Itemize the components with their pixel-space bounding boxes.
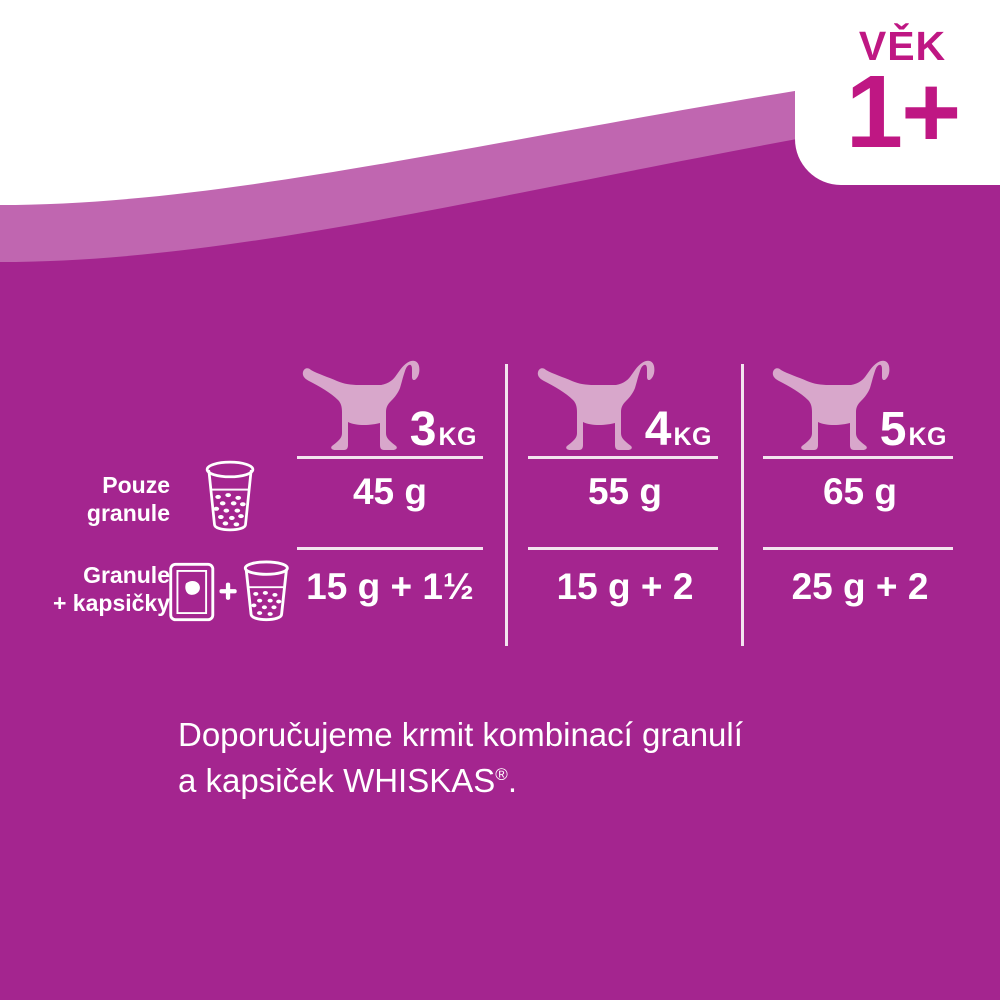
row-label-1-line2: granule (30, 499, 170, 527)
feeding-table: 3KG 4KG (0, 318, 1000, 658)
age-badge-value: 1+ (846, 63, 959, 161)
weight-value-col-1: 3KG (410, 406, 477, 454)
table-cell-r1c1: 45 g (295, 473, 485, 510)
row-divider-1-col-3 (763, 547, 953, 550)
row-label-1-line1: Pouze (30, 471, 170, 499)
table-header-col-1: 3KG (295, 348, 485, 458)
table-cell-r1c3: 65 g (765, 473, 955, 510)
cat-silhouette-icon (769, 360, 897, 450)
row-label-1: Pouze granule (30, 471, 170, 527)
table-header-col-3: 5KG (765, 348, 955, 458)
weight-value-col-2: 4KG (645, 406, 712, 454)
table-cell-r2c3: 25 g + 2 (765, 568, 955, 605)
weight-number-1: 3 (410, 403, 437, 456)
weight-number-2: 4 (645, 403, 672, 456)
recommendation-note-line2-wrap: a kapsiček WHISKAS®. (178, 758, 938, 804)
row-label-2: Granule + kapsičky (30, 561, 170, 617)
column-divider-1 (505, 364, 508, 646)
weight-value-col-3: 5KG (880, 406, 947, 454)
recommendation-note-period: . (508, 762, 517, 799)
weight-number-3: 5 (880, 403, 907, 456)
row-label-2-line2: + kapsičky (30, 589, 170, 617)
row-divider-header-col-2 (528, 456, 718, 459)
cup-shape (245, 562, 287, 620)
weight-unit-2: KG (674, 423, 713, 451)
row-divider-header-col-1 (297, 456, 483, 459)
recommendation-note-line1: Doporučujeme krmit kombinací granulí (178, 712, 938, 758)
row-divider-1-col-2 (528, 547, 718, 550)
table-header-col-2: 4KG (530, 348, 720, 458)
age-badge: VĚK 1+ (795, 18, 1000, 185)
registered-trademark-symbol: ® (495, 765, 508, 784)
plus-sign (219, 583, 236, 600)
pouch-shape (171, 564, 213, 619)
cat-silhouette-icon (534, 360, 662, 450)
cat-silhouette-icon (299, 360, 427, 450)
row-label-2-line1: Granule (30, 561, 170, 589)
pouch-plus-cup-icon (162, 556, 298, 628)
recommendation-note-line2: a kapsiček WHISKAS (178, 762, 495, 799)
column-divider-2 (741, 364, 744, 646)
table-cell-r2c1: 15 g + 1½ (295, 568, 485, 605)
measuring-cup-kibble-icon (170, 460, 290, 532)
recommendation-note: Doporučujeme krmit kombinací granulí a k… (178, 712, 938, 803)
weight-unit-1: KG (439, 423, 478, 451)
table-cell-r1c2: 55 g (530, 473, 720, 510)
table-cell-r2c2: 15 g + 2 (530, 568, 720, 605)
feeding-guide-page: VĚK 1+ 3KG (0, 0, 1000, 1000)
weight-unit-3: KG (909, 423, 948, 451)
row-divider-1-col-1 (297, 547, 483, 550)
row-divider-header-col-3 (763, 456, 953, 459)
